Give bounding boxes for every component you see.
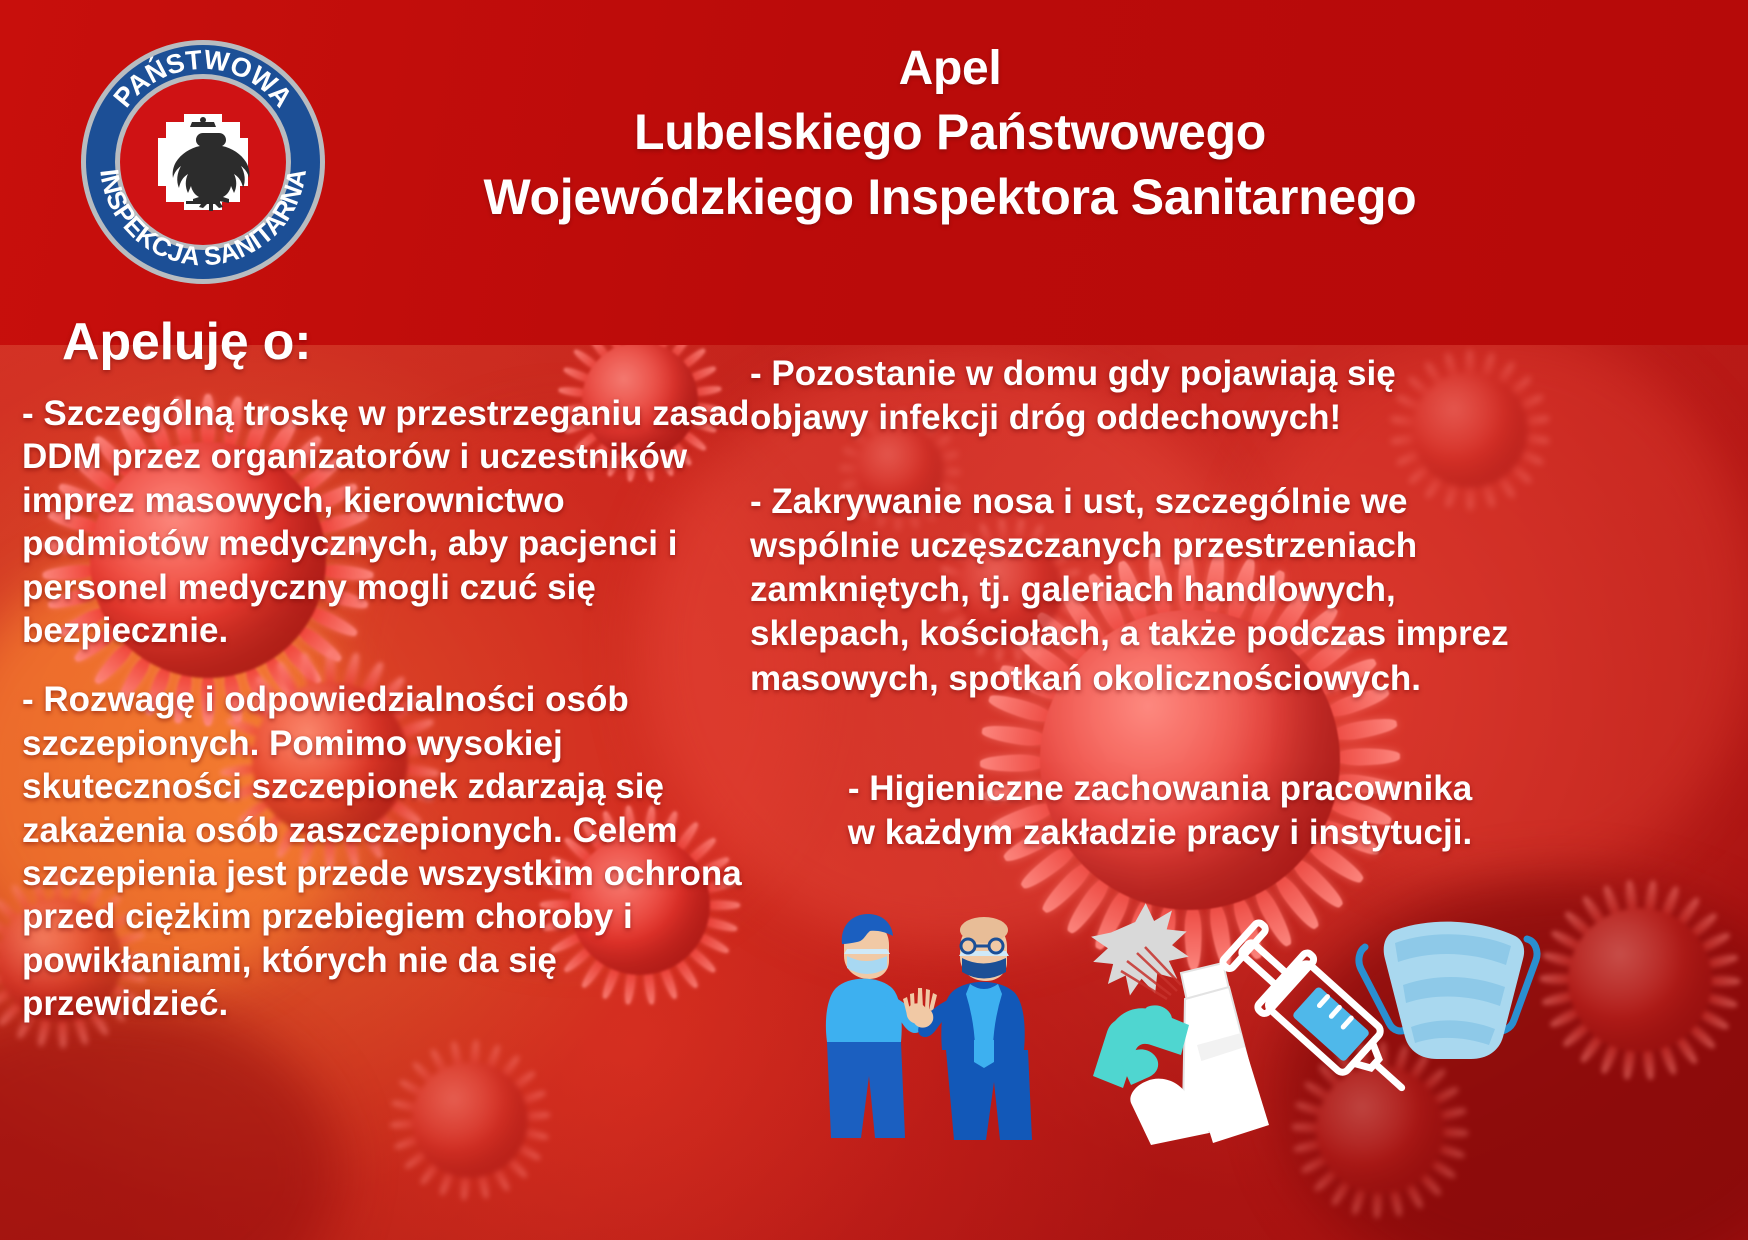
headline-apeluje: Apeluję o: [62,312,311,372]
page-title: Apel Lubelskiego Państwowego Wojewódzkie… [380,38,1520,230]
appeal-item-cover-nose-mouth: - Zakrywanie nosa i ust, szczególnie we … [750,480,1510,700]
appeal-item-stay-home: - Pozostanie w domu gdy pojawiają się ob… [750,352,1510,440]
logo-svg: PAŃSTWOWA INSPEKCJA SANITARNA [78,30,328,295]
public-health-appeal-poster: Apel Lubelskiego Państwowego Wojewódzkie… [0,0,1748,1240]
appeal-item-ddm: - Szczególną troskę w przestrzeganiu zas… [22,392,752,652]
title-line-3: Wojewódzkiego Inspektora Sanitarnego [380,165,1520,230]
title-line-1: Apel [380,38,1520,100]
appeal-item-hygiene: - Higieniczne zachowania pracownika w ka… [810,767,1510,855]
sanitary-inspection-logo: PAŃSTWOWA INSPEKCJA SANITARNA [78,30,328,295]
left-text-column: - Szczególną troskę w przestrzeganiu zas… [22,392,752,1051]
right-text-column: - Pozostanie w domu gdy pojawiają się ob… [750,352,1510,895]
appeal-item-vaccination: - Rozwagę i odpowiedzialności osób szcze… [22,678,752,1025]
title-line-2: Lubelskiego Państwowego [380,100,1520,165]
